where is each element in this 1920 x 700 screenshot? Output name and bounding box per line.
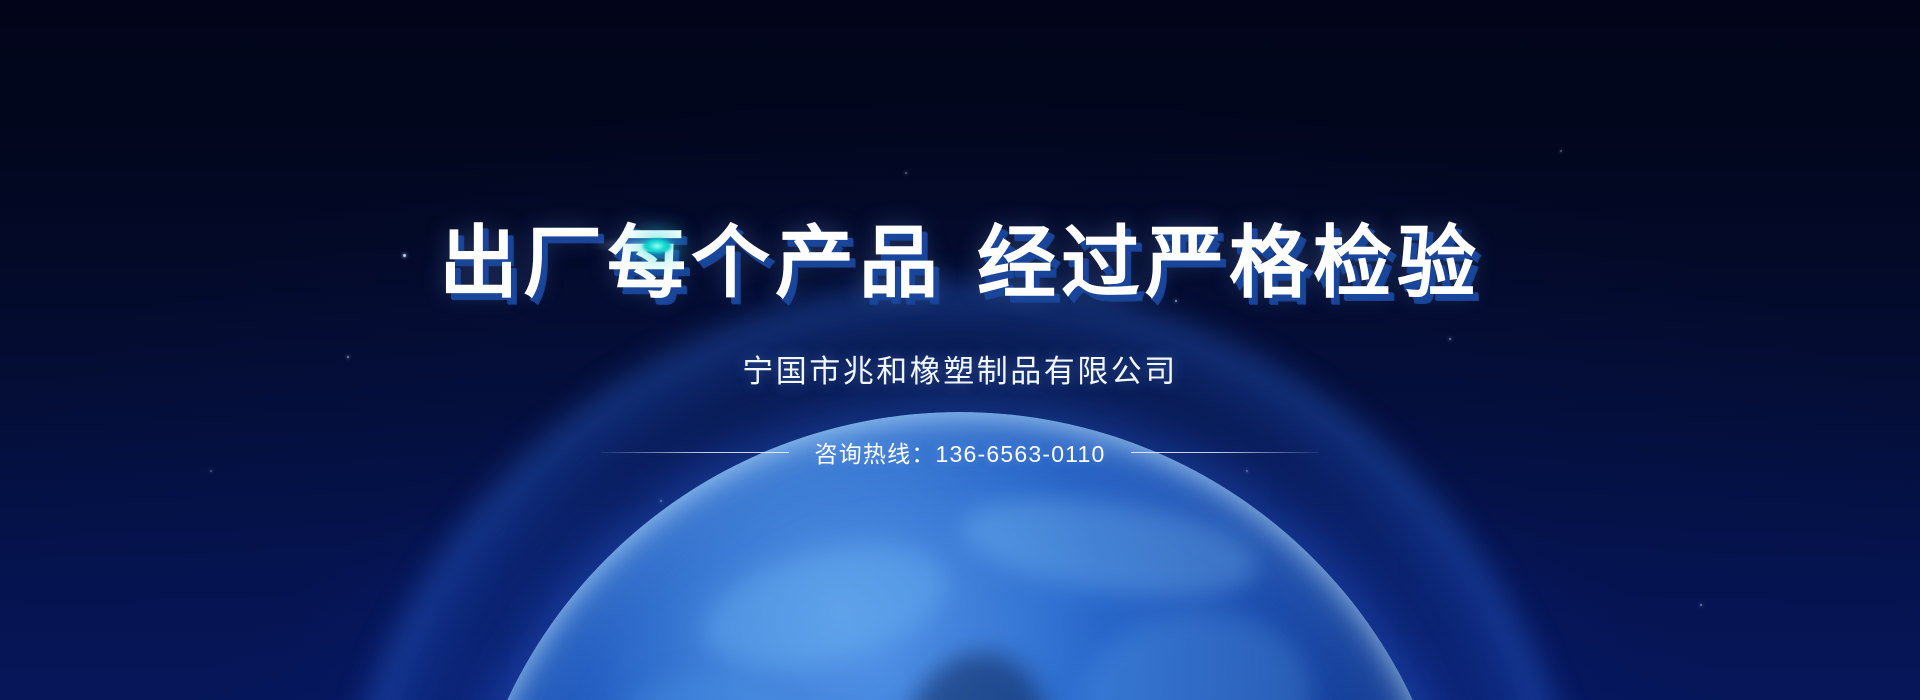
banner-content: 出厂每个产品经过严格检验 宁国市兆和橡塑制品有限公司 咨询热线：136-6563…	[0, 0, 1920, 469]
hotline-label: 咨询热线：	[815, 441, 936, 467]
headline-part-1: 出厂每个产品	[439, 218, 943, 307]
hero-banner: 出厂每个产品经过严格检验 宁国市兆和橡塑制品有限公司 咨询热线：136-6563…	[0, 0, 1920, 700]
planet-cloud-band	[1072, 600, 1319, 700]
company-name: 宁国市兆和橡塑制品有限公司	[0, 304, 1920, 391]
hotline-number: 136-6563-0110	[936, 441, 1106, 467]
star	[210, 470, 212, 472]
page-title: 出厂每个产品经过严格检验	[0, 0, 1920, 304]
planet-cloud-band	[610, 672, 800, 700]
divider-line-left	[601, 452, 789, 453]
star	[1700, 604, 1702, 606]
star	[724, 570, 726, 572]
planet-cloud-band	[955, 482, 1265, 613]
planet-landmass	[884, 640, 1066, 700]
divider-line-right	[1131, 452, 1319, 453]
comet-spark-icon	[642, 238, 672, 254]
hotline-row: 咨询热线：136-6563-0110	[0, 391, 1920, 469]
headline-part-2: 经过严格检验	[977, 218, 1481, 307]
star	[1246, 470, 1248, 472]
star	[660, 500, 662, 502]
hotline-text: 咨询热线：136-6563-0110	[815, 435, 1106, 469]
star	[1055, 612, 1057, 614]
planet-cloud-band	[690, 523, 959, 690]
